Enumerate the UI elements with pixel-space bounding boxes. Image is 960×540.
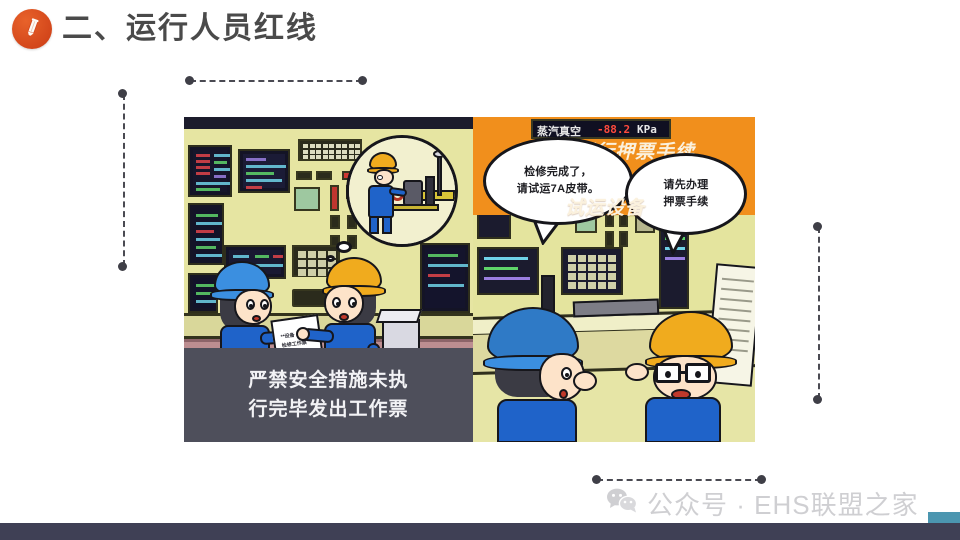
slide-title-row: 二、运行人员红线 [0, 0, 960, 62]
dash-top-right-dot [358, 76, 367, 85]
thought-bubble-tail-large [336, 241, 352, 253]
dash-top-horizontal [190, 80, 362, 82]
equipment-crate-top [376, 309, 423, 323]
illustration-right-panel: 蒸汽真空 -88.2 KPa [473, 117, 755, 442]
right-worker-d-body [645, 397, 721, 442]
illustration-left-panel: **设备 检修工作票 [184, 117, 473, 442]
wall-monitor-1 [188, 145, 232, 197]
wall-monitor-2 [238, 149, 290, 193]
vacuum-gauge-unit: KPa [637, 123, 657, 136]
right-wall-switch-3 [605, 231, 614, 247]
worker-b-eye-left [332, 297, 341, 308]
wall-gauge-1 [294, 187, 320, 211]
warning-caption-bar: 严禁安全措施未执 行完毕发出工作票 [184, 348, 473, 442]
watermark-text: 公众号 · EHS联盟之家 [647, 485, 919, 522]
dash-right-vertical [818, 227, 820, 399]
thought-worker-leg-left [369, 216, 379, 234]
right-worker-c-body [497, 399, 577, 442]
thought-bubble-valve-operation [346, 135, 458, 247]
wall-indicator-1 [330, 185, 339, 211]
worker-a-eye-right [260, 299, 269, 310]
dash-bottom-right-dot [757, 475, 766, 484]
right-desk-console [561, 247, 623, 295]
speech-bubble-right-text: 请先办理 押票手续 [663, 177, 708, 211]
worker-b-mouth [339, 313, 349, 321]
vacuum-gauge-display: 蒸汽真空 -88.2 KPa [531, 119, 671, 139]
thought-worker-leg-right [382, 216, 392, 234]
thought-bubble-tail-small [326, 255, 335, 262]
wall-indicator-3 [330, 215, 340, 229]
dash-right-bottom-dot [813, 395, 822, 404]
worker-a-eye-left [246, 299, 255, 310]
vacuum-gauge-value: -88.2 [597, 123, 630, 136]
dash-bottom-left-dot [592, 475, 601, 484]
page-title: 二、运行人员红线 [62, 6, 318, 52]
worker-b-eye-right [348, 297, 357, 308]
dash-right-top-dot [813, 222, 822, 231]
dash-left-top-dot [118, 89, 127, 98]
worker-b-hand [296, 327, 310, 341]
wechat-icon [606, 487, 638, 520]
wall-switch-1 [296, 171, 312, 180]
desk-monitor-3 [420, 243, 470, 313]
safety-comic-illustration: **设备 检修工作票 [184, 117, 755, 442]
watermark: 公众号 · EHS联盟之家 [606, 485, 919, 522]
wall-monitor-3 [188, 203, 224, 265]
right-worker-c-mouth [559, 389, 568, 399]
banner-line-2: 试运设备 [565, 193, 645, 220]
dash-left-vertical [123, 94, 125, 266]
footer-bar [0, 523, 960, 540]
right-worker-c-eye [561, 367, 572, 380]
right-desk-monitor [477, 247, 539, 295]
pencil-icon [12, 9, 52, 49]
wall-switch-2 [316, 171, 332, 180]
right-worker-d-hand [625, 363, 649, 381]
right-wall-switch-4 [619, 231, 628, 247]
dash-top-left-dot [185, 76, 194, 85]
worker-a-mouth [252, 315, 261, 322]
dash-bottom-horizontal [597, 479, 761, 481]
dash-left-bottom-dot [118, 262, 127, 271]
right-worker-c-hand [573, 371, 597, 391]
warning-caption-text: 严禁安全措施未执 行完毕发出工作票 [248, 366, 408, 424]
ceiling-strip [184, 117, 473, 129]
thought-bubble-scene [349, 138, 455, 244]
